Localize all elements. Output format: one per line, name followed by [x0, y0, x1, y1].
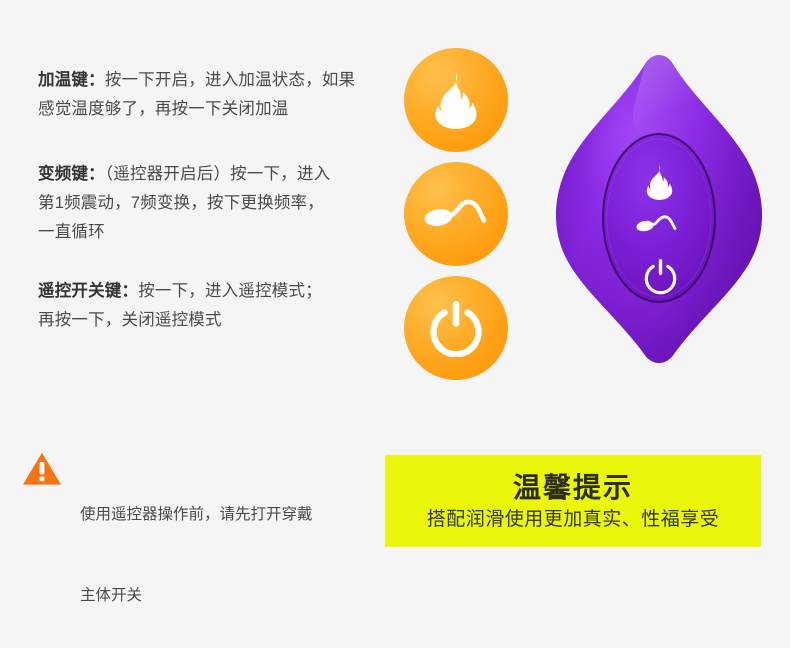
instruction-line: 变频键：（遥控器开启后）按一下，进入: [38, 160, 388, 189]
warning-paragraph: 使用遥控器操作前，请先打开穿戴 主体开关: [80, 447, 382, 648]
warning-text-group: 使用遥控器操作前，请先打开穿戴 主体开关 20分钟内不对产品进行操作，穿戴 则自…: [80, 447, 382, 648]
device-image: [540, 46, 780, 386]
warning-triangle-icon: [22, 447, 62, 648]
tip-banner-title: 温馨提示: [513, 471, 633, 505]
instruction-text: （遥控器开启后）按一下，进入: [105, 165, 331, 183]
warning-note: 使用遥控器操作前，请先打开穿戴 主体开关 20分钟内不对产品进行操作，穿戴 则自…: [22, 447, 382, 648]
product-instruction-page: 加温键：按一下开启，进入加温状态，如果 感觉温度够了，再按一下关闭加温 变频键：…: [0, 0, 790, 648]
feature-icon-power: [404, 276, 508, 380]
feature-icon-heat: [404, 48, 508, 152]
instruction-item-frequency-button: 变频键：（遥控器开启后）按一下，进入 第1频震动，7频变换，按下更换频率， 一直…: [38, 160, 388, 247]
instruction-item-remote-switch-button: 遥控开关键：按一下，进入遥控模式； 再按一下，关闭遥控模式: [38, 277, 388, 335]
instruction-list: 加温键：按一下开启，进入加温状态，如果 感觉温度够了，再按一下关闭加温 变频键：…: [38, 66, 388, 365]
instruction-line: 遥控开关键：按一下，进入遥控模式；: [38, 277, 388, 306]
feature-icon-column: [404, 48, 510, 390]
instruction-item-heat-button: 加温键：按一下开启，进入加温状态，如果 感觉温度够了，再按一下关闭加温: [38, 66, 388, 124]
instruction-keyword: 变频键：: [38, 165, 105, 183]
instruction-keyword: 遥控开关键：: [38, 282, 138, 300]
tip-banner-subtitle: 搭配润滑使用更加真实、性福享受: [427, 506, 720, 534]
warning-line: 使用遥控器操作前，请先打开穿戴: [80, 501, 382, 528]
warning-line: 主体开关: [80, 582, 382, 609]
instruction-line: 一直循环: [38, 218, 388, 247]
instruction-line: 感觉温度够了，再按一下关闭加温: [38, 95, 388, 124]
instruction-line: 加温键：按一下开启，进入加温状态，如果: [38, 66, 388, 95]
instruction-text: 按一下，进入遥控模式；: [138, 282, 322, 300]
feature-icon-frequency: [404, 162, 508, 266]
instruction-line: 第1频震动，7频变换，按下更换频率，: [38, 189, 388, 218]
instruction-keyword: 加温键：: [38, 71, 105, 89]
instruction-text: 按一下开启，进入加温状态，如果: [105, 71, 356, 89]
tip-banner: 温馨提示 搭配润滑使用更加真实、性福享受: [385, 455, 761, 547]
instruction-line: 再按一下，关闭遥控模式: [38, 306, 388, 335]
